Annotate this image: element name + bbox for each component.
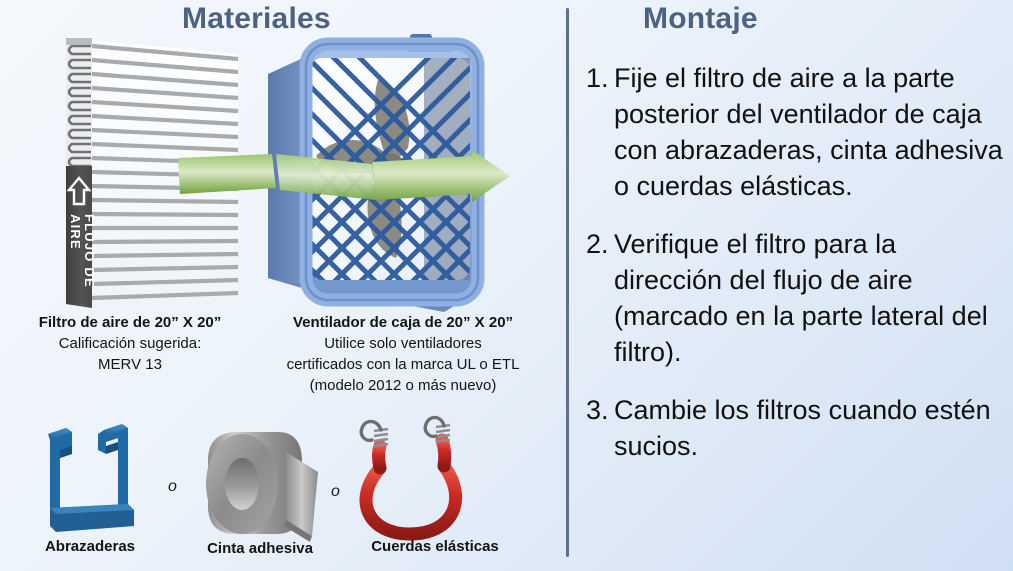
list-item: 3. Cambie los filtros cuando estén sucio… xyxy=(586,392,1010,464)
airflow-arrow-icon xyxy=(176,150,512,220)
step-text: Verifique el filtro para la dirección de… xyxy=(614,226,1010,370)
filter-caption-line2: Calificación sugerida: xyxy=(4,333,256,354)
clamp-icon xyxy=(22,420,162,542)
filter-caption: Filtro de aire de 20” X 20” Calificación… xyxy=(4,312,256,375)
step-number: 2. xyxy=(586,226,614,262)
step-text: Cambie los filtros cuando estén sucios. xyxy=(614,392,1010,464)
separator-or-2: o xyxy=(331,483,340,501)
list-item: 2. Verifique el filtro para la dirección… xyxy=(586,226,1010,370)
list-item: 1. Fije el filtro de aire a la parte pos… xyxy=(586,60,1010,204)
bungee-cord-icon xyxy=(344,418,484,540)
infographic-canvas: Materiales Montaje xyxy=(0,0,1013,571)
fan-caption-title: Ventilador de caja de 20” X 20” xyxy=(248,312,558,333)
separator-or-1: o xyxy=(168,478,177,496)
filter-flow-label-line2: AIRE xyxy=(68,214,83,250)
vertical-divider xyxy=(566,8,569,557)
fan-caption-line2: Utilice solo ventiladores xyxy=(248,333,558,354)
step-text: Fije el filtro de aire a la parte poster… xyxy=(614,60,1010,204)
assembly-steps-list: 1. Fije el filtro de aire a la parte pos… xyxy=(586,60,1010,486)
label-cinta-adhesiva: Cinta adhesiva xyxy=(185,540,335,557)
tape-roll-icon xyxy=(190,424,332,544)
fan-caption-line4: (modelo 2012 o más nuevo) xyxy=(248,375,558,396)
filter-flow-label-line1: FLUJO DE xyxy=(82,214,97,288)
filter-caption-line3: MERV 13 xyxy=(4,354,256,375)
step-number: 1. xyxy=(586,60,614,96)
label-cuerdas-elasticas: Cuerdas elásticas xyxy=(340,538,530,555)
fan-caption-line3: certificados con la marca UL o ETL xyxy=(248,354,558,375)
filter-caption-title: Filtro de aire de 20” X 20” xyxy=(4,312,256,333)
step-number: 3. xyxy=(586,392,614,428)
page-title-montaje: Montaje xyxy=(643,2,758,36)
label-abrazaderas: Abrazaderas xyxy=(10,538,170,555)
fan-caption: Ventilador de caja de 20” X 20” Utilice … xyxy=(248,312,558,396)
